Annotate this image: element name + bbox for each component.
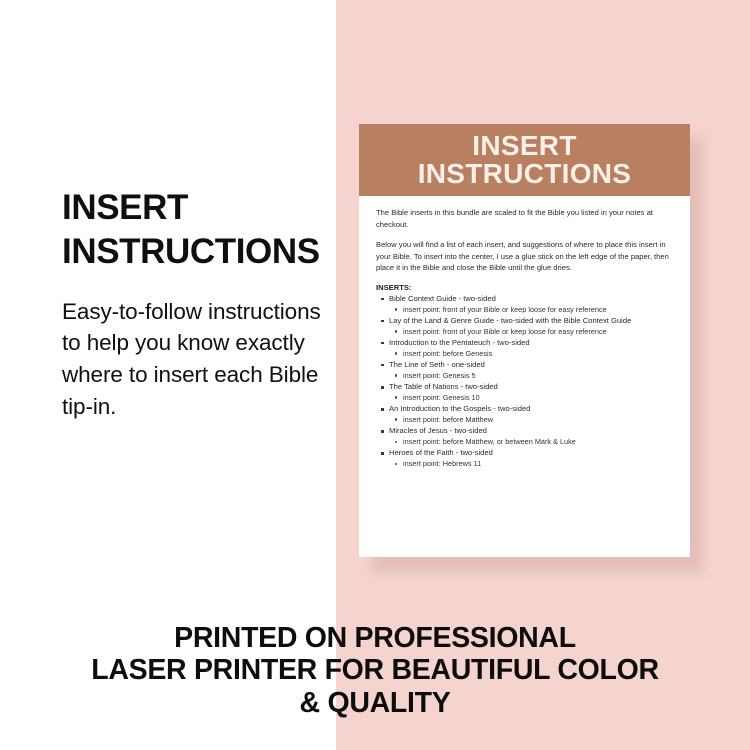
insert-note-list: insert point: before Matthew, or between… [389,437,675,448]
circle-bullet-icon [395,374,397,376]
insert-note-list: insert point: Genesis 10 [389,393,675,404]
square-bullet-icon [381,342,384,345]
insert-title: An Introduction to the Gospels - two-sid… [389,404,530,413]
bottom-caption: PRINTED ON PROFESSIONAL LASER PRINTER FO… [0,622,750,719]
insert-note: insert point: Genesis 5 [403,371,476,380]
page-title: INSERT INSTRUCTIONS [62,186,340,274]
list-item: The Table of Nations - two-sidedinsert p… [389,382,675,404]
document-header-band: INSERT INSTRUCTIONS [359,124,690,196]
insert-note: insert point: before Genesis [403,349,492,358]
insert-note-list: insert point: front of your Bible or kee… [389,305,675,316]
insert-title: Lay of the Land & Genre Guide - two-side… [389,316,631,325]
insert-title: Bible Context Guide - two-sided [389,294,496,303]
circle-bullet-icon [395,441,397,443]
insert-note: insert point: Genesis 10 [403,393,480,402]
insert-title: Miracles of Jesus - two-sided [389,426,487,435]
list-item: Heroes of the Faith - two-sidedinsert po… [389,448,675,470]
insert-note-list: insert point: front of your Bible or kee… [389,327,675,338]
list-item: insert point: front of your Bible or kee… [403,305,675,316]
square-bullet-icon [381,452,384,455]
list-item: insert point: Genesis 10 [403,393,675,404]
insert-note: insert point: before Matthew, or between… [403,437,576,446]
insert-note: insert point: Hebrews 11 [403,459,481,468]
circle-bullet-icon [395,396,397,398]
square-bullet-icon [381,408,384,411]
inserts-section-label: INSERTS: [376,283,675,292]
list-item: insert point: before Matthew [403,415,675,426]
insert-title: The Line of Seth - one-sided [389,360,485,369]
document-paragraph: The Bible inserts in this bundle are sca… [376,207,675,230]
page-subtitle: Easy-to-follow instructions to help you … [62,296,340,424]
list-item: An Introduction to the Gospels - two-sid… [389,404,675,426]
list-item: insert point: before Matthew, or between… [403,437,675,448]
insert-note: insert point: front of your Bible or kee… [403,305,607,314]
circle-bullet-icon [395,308,397,310]
insert-title: Introduction to the Pentateuch - two-sid… [389,338,530,347]
insert-title: The Table of Nations - two-sided [389,382,498,391]
list-item: insert point: before Genesis [403,349,675,360]
list-item: insert point: front of your Bible or kee… [403,327,675,338]
square-bullet-icon [381,320,384,323]
square-bullet-icon [381,386,384,389]
circle-bullet-icon [395,330,397,332]
insert-note-list: insert point: Hebrews 11 [389,459,675,470]
document-body: The Bible inserts in this bundle are sca… [359,196,690,470]
document-paragraph: Below you will find a list of each inser… [376,239,675,274]
square-bullet-icon [381,298,384,301]
list-item: The Line of Seth - one-sidedinsert point… [389,360,675,382]
list-item: Bible Context Guide - two-sidedinsert po… [389,294,675,316]
circle-bullet-icon [395,463,397,465]
promo-graphic-canvas: INSERT INSTRUCTIONS Easy-to-follow instr… [0,0,750,750]
list-item: insert point: Hebrews 11 [403,459,675,470]
list-item: insert point: Genesis 5 [403,371,675,382]
document-preview-card: INSERT INSTRUCTIONS The Bible inserts in… [359,124,690,557]
insert-note: insert point: front of your Bible or kee… [403,327,607,336]
insert-note: insert point: before Matthew [403,415,493,424]
insert-note-list: insert point: Genesis 5 [389,371,675,382]
square-bullet-icon [381,364,384,367]
square-bullet-icon [381,430,384,433]
circle-bullet-icon [395,352,397,354]
left-promo-block: INSERT INSTRUCTIONS Easy-to-follow instr… [62,186,340,423]
list-item: Introduction to the Pentateuch - two-sid… [389,338,675,360]
list-item: Lay of the Land & Genre Guide - two-side… [389,316,675,338]
insert-title: Heroes of the Faith - two-sided [389,448,493,457]
list-item: Miracles of Jesus - two-sidedinsert poin… [389,426,675,448]
inserts-list: Bible Context Guide - two-sidedinsert po… [376,294,675,470]
circle-bullet-icon [395,418,397,420]
insert-note-list: insert point: before Matthew [389,415,675,426]
document-header-title: INSERT INSTRUCTIONS [418,132,632,188]
insert-note-list: insert point: before Genesis [389,349,675,360]
